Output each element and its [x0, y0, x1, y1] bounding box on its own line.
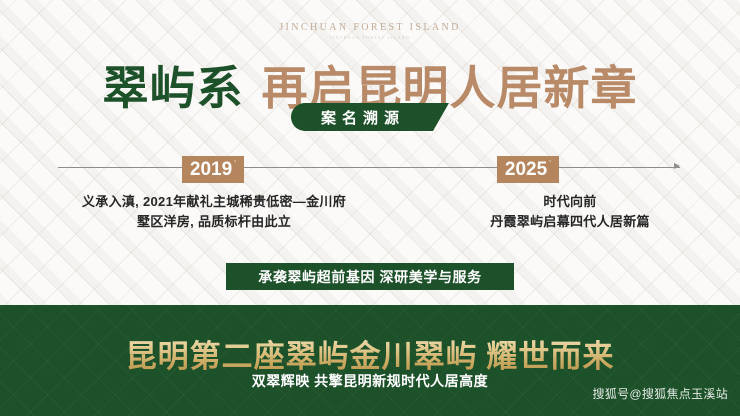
timeline-entry-line2: 丹霞翠屿启幕四代人居新篇 — [430, 212, 710, 232]
timeline-entry-line1: 时代向前 — [430, 192, 710, 212]
background-lattice-pattern — [0, 0, 740, 306]
timeline-axis — [58, 167, 680, 168]
footer-headline: 昆明第二座翠屿金川翠屿 耀世而来 — [0, 331, 740, 376]
poster-canvas: JINCHUAN FOREST ISLAND JINCHUAN FOREST I… — [0, 0, 740, 416]
brand-logo-wordmark: JINCHUAN FOREST ISLAND — [0, 22, 740, 33]
timeline-entry-2019-text: 义承入滇, 2021年献礼主城稀贵低密—金川府 墅区洋房, 品质标杆由此立 — [55, 192, 373, 232]
timeline-year-badge-2025: 2025 ' — [497, 156, 559, 183]
timeline-year-tick: ' — [234, 159, 236, 170]
source-watermark: 搜狐号@搜狐焦点玉溪站 — [593, 385, 728, 402]
timeline-arrow-icon — [674, 163, 680, 169]
brand-logo-band: JINCHUAN FOREST ISLAND JINCHUAN FOREST I… — [0, 22, 740, 40]
timeline-entry-line1: 义承入滇, 2021年献礼主城稀贵低密—金川府 — [55, 192, 373, 212]
timeline-year-label: 2025 — [505, 159, 547, 181]
timeline-entry-line2: 墅区洋房, 品质标杆由此立 — [55, 212, 373, 232]
tagline-bar: 承袭翠屿超前基因 深研美学与服务 — [226, 263, 514, 290]
tagline-bar-text: 承袭翠屿超前基因 深研美学与服务 — [258, 267, 482, 287]
timeline-year-label: 2019 — [190, 159, 232, 181]
brand-logo-subline: JINCHUAN FOREST ISLAND — [0, 35, 740, 40]
page-title-series: 翠屿系 — [103, 52, 244, 118]
timeline-year-tick: ' — [549, 159, 551, 170]
footer-panel: 昆明第二座翠屿金川翠屿 耀世而来 双翠辉映 共擎昆明新规时代人居高度 搜狐号@搜… — [0, 305, 740, 416]
timeline-entry-2025-text: 时代向前 丹霞翠屿启幕四代人居新篇 — [430, 192, 710, 232]
timeline-year-badge-2019: 2019 ' — [182, 156, 244, 183]
section-ribbon-badge: 案名溯源 — [291, 103, 449, 131]
section-ribbon-label: 案名溯源 — [317, 107, 405, 128]
